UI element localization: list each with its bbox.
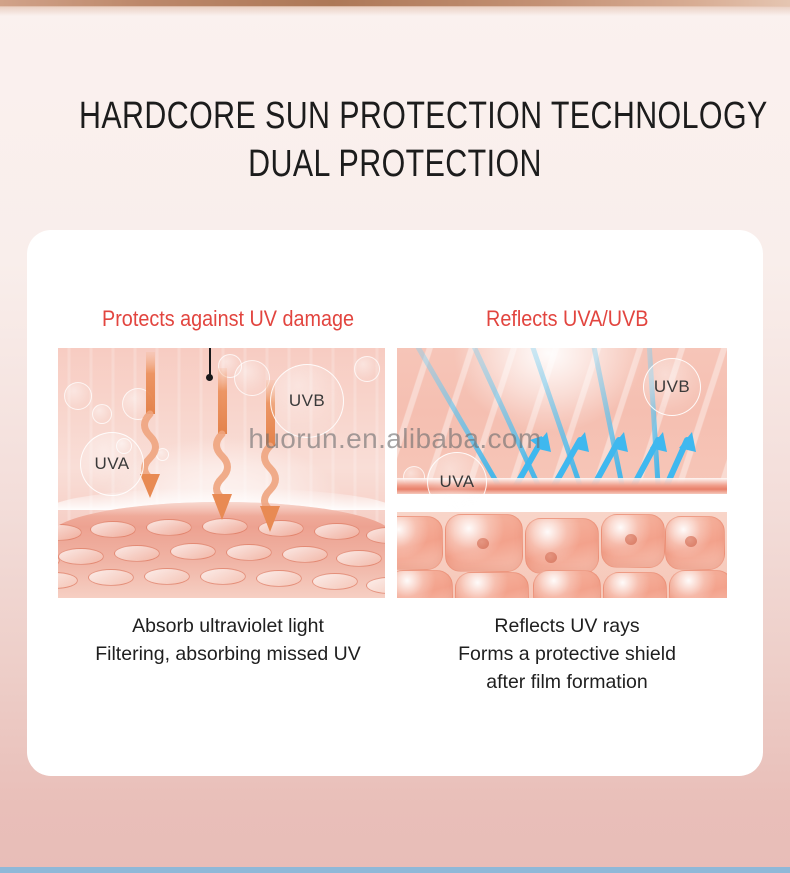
content-card: Protects against UV damage <box>27 230 763 776</box>
caption-reflect-line-2: Forms a protective shield <box>391 640 743 668</box>
label-uva-absorb: UVA <box>80 432 144 496</box>
top-accent-fade <box>0 6 790 16</box>
caption-reflect-line-3: after film formation <box>391 668 743 696</box>
pointer-pin-dot <box>206 374 213 381</box>
label-uva-absorb-text: UVA <box>95 454 130 474</box>
uv-arrow-1 <box>140 352 160 498</box>
page-title: HARDCORE SUN PROTECTION TECHNOLOGY DUAL … <box>0 92 790 188</box>
column-heading-absorb: Protects against UV damage <box>58 306 398 332</box>
column-absorb: Protects against UV damage <box>58 230 398 776</box>
column-reflect: Reflects UVA/UVB <box>397 230 737 776</box>
column-heading-reflect: Reflects UVA/UVB <box>397 306 737 332</box>
caption-absorb-line-1: Absorb ultraviolet light <box>52 612 404 640</box>
label-uva-reflect-text: UVA <box>440 472 475 492</box>
label-uva-reflect: UVA <box>427 452 487 512</box>
figure-absorb: UVA UVB <box>58 348 385 598</box>
column-heading-absorb-text: Protects against UV damage <box>102 306 354 332</box>
product-infographic-page: HARDCORE SUN PROTECTION TECHNOLOGY DUAL … <box>0 0 790 873</box>
pointer-pin-line <box>209 348 211 376</box>
comparison-columns: Protects against UV damage <box>27 230 763 776</box>
column-heading-reflect-text: Reflects UVA/UVB <box>486 306 648 332</box>
caption-reflect: Reflects UV rays Forms a protective shie… <box>391 612 743 696</box>
label-uvb-reflect: UVB <box>643 358 701 416</box>
skin-cell-layer-reflect <box>397 512 727 598</box>
bottom-accent-strip <box>0 867 790 873</box>
uv-arrow-2 <box>212 368 232 520</box>
caption-absorb: Absorb ultraviolet light Filtering, abso… <box>52 612 404 668</box>
label-uvb-absorb-text: UVB <box>289 391 325 411</box>
label-uvb-absorb: UVB <box>270 364 344 438</box>
label-uvb-reflect-text: UVB <box>654 377 690 397</box>
title-line-2: DUAL PROTECTION <box>79 140 711 188</box>
caption-reflect-line-1: Reflects UV rays <box>391 612 743 640</box>
caption-absorb-line-2: Filtering, absorbing missed UV <box>52 640 404 668</box>
title-line-1: HARDCORE SUN PROTECTION TECHNOLOGY <box>79 92 711 140</box>
figure-reflect: UVA UVB <box>397 348 727 598</box>
